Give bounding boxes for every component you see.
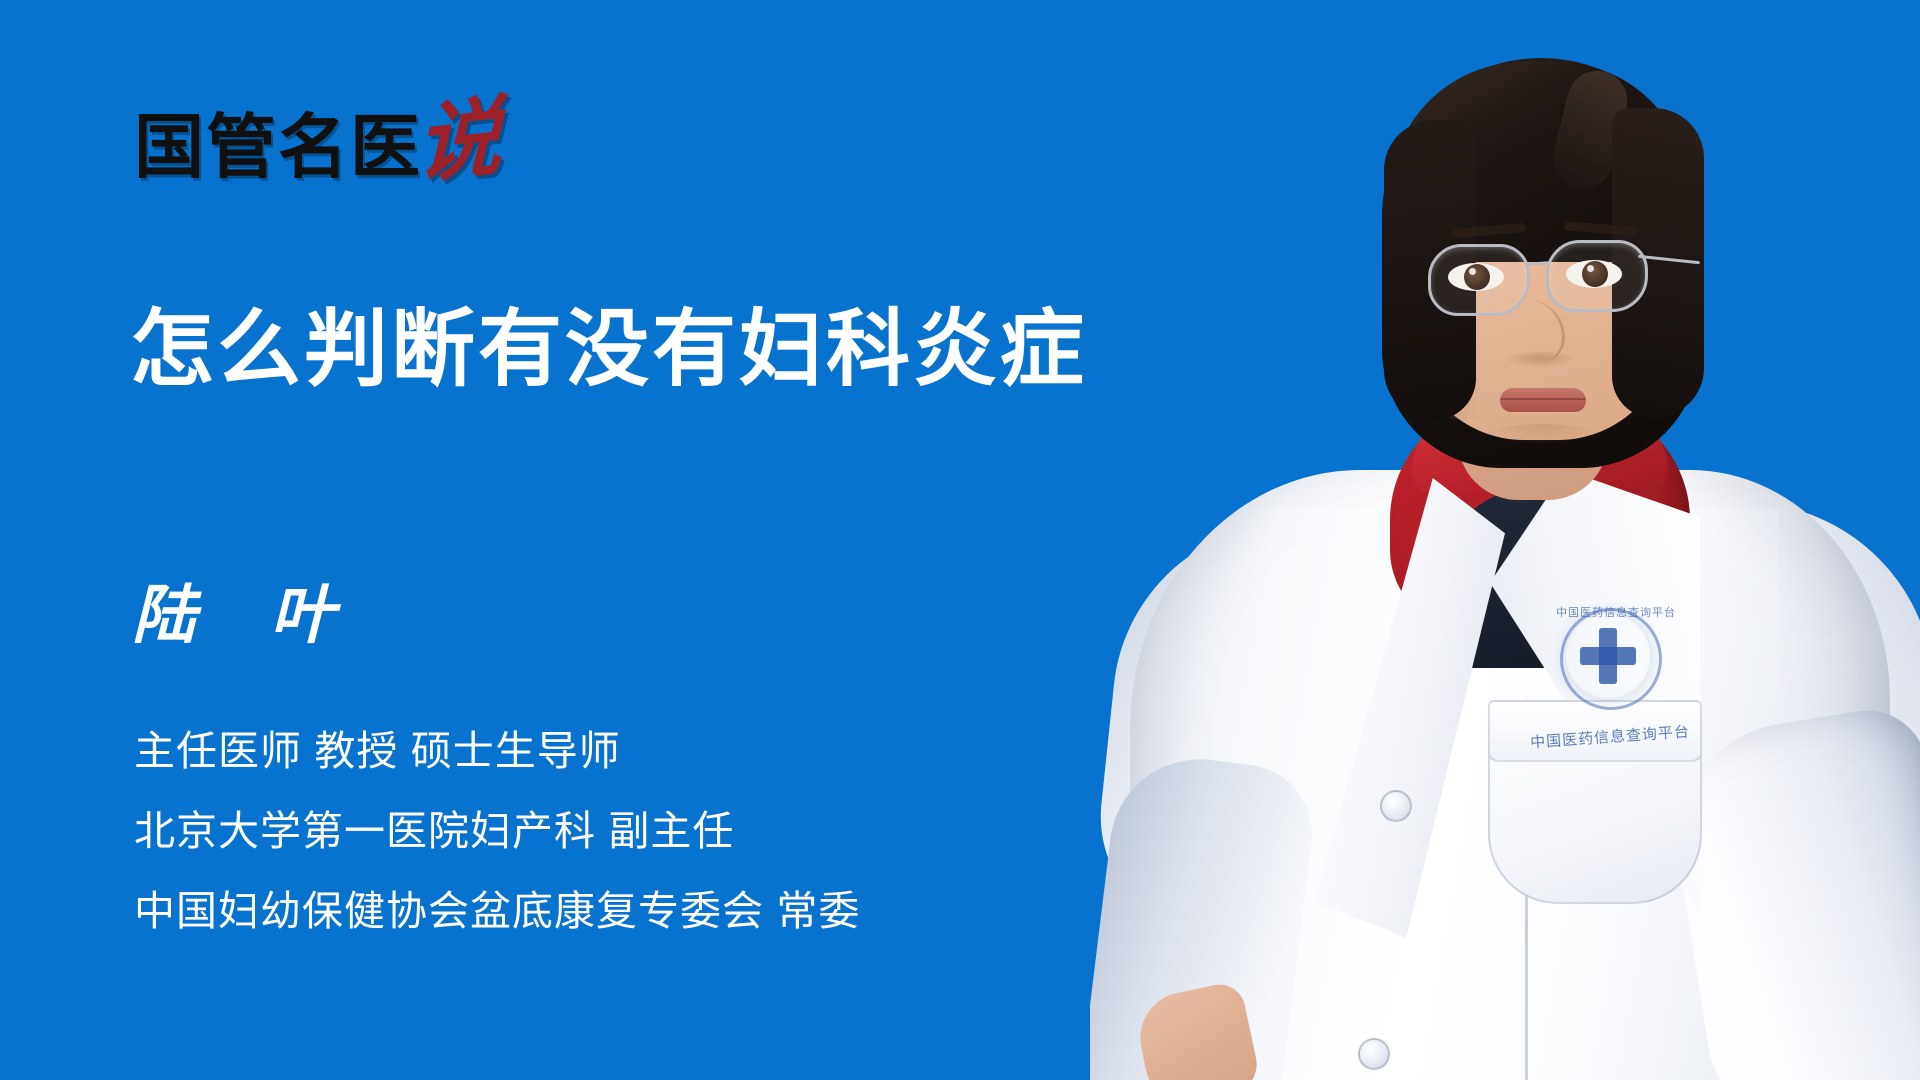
lab-coat-button-upper bbox=[1380, 790, 1412, 822]
chin-shadow bbox=[1486, 424, 1598, 444]
doctor-portrait: 中国医药信息查询平台 中国医药信息查询平台 bbox=[1090, 0, 1920, 1080]
mouth-line bbox=[1500, 398, 1586, 400]
mouth bbox=[1500, 388, 1586, 412]
episode-title: 怎么判断有没有妇科炎症 bbox=[130, 301, 1250, 397]
brand-logo-main-text: 国管名医 bbox=[134, 112, 422, 182]
nose-shadow bbox=[1504, 352, 1576, 368]
video-title-card: 国管名医 说 怎么判断有没有妇科炎症 陆 叶 主任医师 教授 硕士生导师 北京大… bbox=[0, 0, 1920, 1080]
brand-logo: 国管名医 说 bbox=[134, 96, 502, 182]
credential-line-2: 北京大学第一医院妇产科 副主任 bbox=[134, 806, 860, 856]
eyeglasses-lens-right bbox=[1546, 240, 1648, 312]
credential-line-3: 中国妇幼保健协会盆底康复专委会 常委 bbox=[134, 886, 860, 936]
coat-badge-arc-text: 中国医药信息查询平台 bbox=[1556, 604, 1660, 648]
doctor-name: 陆 叶 bbox=[132, 580, 360, 652]
doctor-credentials: 主任医师 教授 硕士生导师 北京大学第一医院妇产科 副主任 中国妇幼保健协会盆底… bbox=[134, 726, 860, 936]
credential-line-1: 主任医师 教授 硕士生导师 bbox=[134, 726, 860, 776]
eyeglasses-lens-left bbox=[1428, 244, 1530, 316]
lab-coat-button-lower bbox=[1358, 1038, 1390, 1070]
brand-logo-accent-text: 说 bbox=[416, 101, 502, 182]
